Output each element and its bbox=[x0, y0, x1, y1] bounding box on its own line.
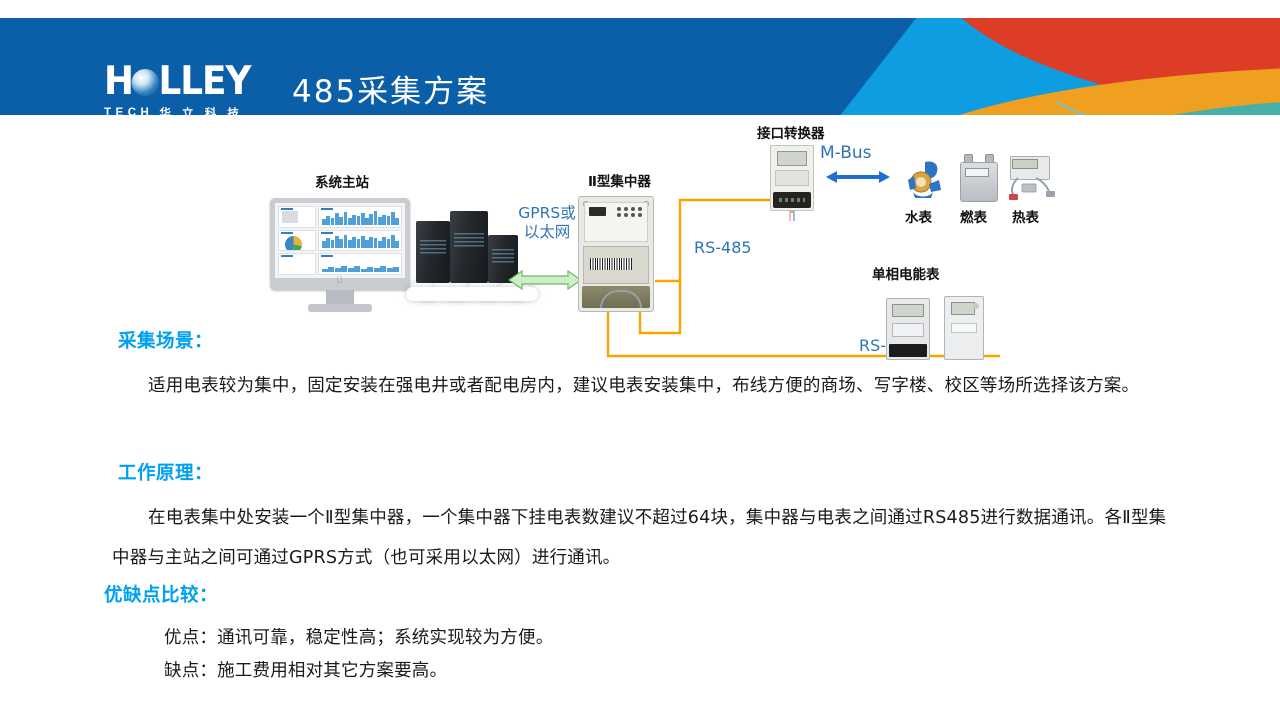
section-paragraph-pros: 优点：通讯可靠，稳定性高；系统实现较为方便。 bbox=[164, 622, 1164, 655]
logo-tech-text: TECH bbox=[104, 107, 153, 115]
logo-sphere-o-icon bbox=[132, 69, 160, 96]
barcode-icon bbox=[590, 258, 632, 270]
label-gas-meter: 燃表 bbox=[960, 206, 987, 226]
converter-label-area bbox=[775, 170, 809, 186]
logo-text-before-o: H bbox=[104, 59, 133, 104]
heat-meter-icon bbox=[1006, 154, 1058, 202]
concentrator-led-array bbox=[617, 207, 643, 217]
label-mbus: M-Bus bbox=[820, 144, 872, 163]
section-paragraph-scenario: 适用电表较为集中，固定安装在强电井或者配电房内，建议电表安装集中，布线方便的商场… bbox=[112, 366, 1180, 406]
label-gprs-line1: GPRS或 bbox=[508, 204, 586, 223]
apple-logo-icon:  bbox=[336, 276, 344, 285]
water-meter-icon bbox=[903, 158, 949, 202]
label-gprs-line2: 以太网 bbox=[508, 223, 586, 242]
dashboard-card-table bbox=[278, 206, 316, 228]
label-master-station: 系统主站 bbox=[315, 171, 369, 191]
gas-meter-icon bbox=[958, 154, 1000, 202]
single-phase-meter-group bbox=[880, 268, 990, 330]
label-rs485-upper: RS-485 bbox=[694, 238, 752, 257]
converter-terminal-block bbox=[773, 192, 811, 208]
concentrator-device bbox=[578, 196, 654, 312]
electric-meter-1 bbox=[886, 298, 930, 360]
section-paragraph-cons: 缺点：施工费用相对其它方案要高。 bbox=[164, 655, 1164, 688]
holley-logo: HLLEY TECH 华 立 科 技 bbox=[104, 62, 269, 115]
label-interface-converter: 接口转换器 bbox=[757, 122, 825, 142]
monitor-base bbox=[308, 304, 372, 312]
slide-root: HLLEY TECH 华 立 科 技 485采集方案 bbox=[0, 0, 1280, 720]
server-rack-1 bbox=[416, 221, 450, 283]
concentrator-panel bbox=[584, 202, 648, 242]
server-rack-2 bbox=[450, 211, 488, 283]
concentrator-lcd bbox=[589, 207, 606, 216]
master-station-monitor:  bbox=[270, 198, 410, 318]
mbus-double-arrow-icon bbox=[826, 170, 890, 184]
dashboard-card-pie bbox=[278, 230, 316, 252]
converter-lcd bbox=[777, 151, 807, 166]
page-title: 485采集方案 bbox=[292, 66, 489, 111]
dashboard-card-list bbox=[278, 253, 316, 275]
dashboard-card-bar-2 bbox=[318, 230, 402, 252]
dashboard-card-bar-3 bbox=[318, 253, 402, 275]
label-gprs-link: GPRS或 以太网 bbox=[508, 204, 586, 242]
slide-header: HLLEY TECH 华 立 科 技 485采集方案 bbox=[0, 18, 1280, 115]
label-water-meter: 水表 bbox=[905, 206, 932, 226]
electric-meter-2 bbox=[944, 296, 984, 360]
gprs-double-arrow-icon bbox=[508, 270, 582, 290]
label-heat-meter: 热表 bbox=[1012, 206, 1039, 226]
logo-chinese-text: 华 立 科 技 bbox=[159, 105, 243, 115]
section-heading-principle: 工作原理： bbox=[118, 459, 213, 485]
section-heading-prosandcons: 优缺点比较： bbox=[104, 581, 218, 607]
label-concentrator: Ⅱ型集中器 bbox=[588, 170, 651, 190]
interface-converter-device bbox=[770, 145, 814, 211]
logo-text-after-o: LLEY bbox=[158, 59, 250, 104]
concentrator-label-area bbox=[583, 246, 649, 284]
section-paragraph-principle: 在电表集中处安装一个Ⅱ型集中器，一个集中器下挂电表数建议不超过64块，集中器与电… bbox=[112, 498, 1180, 578]
logo-subline: TECH 华 立 科 技 bbox=[104, 105, 269, 115]
monitor-neck bbox=[326, 290, 354, 304]
dashboard-card-bar-1 bbox=[318, 206, 402, 228]
concentrator-terminal-block bbox=[582, 286, 650, 308]
monitor-screen bbox=[275, 203, 405, 278]
logo-wordmark: HLLEY bbox=[104, 62, 272, 102]
section-heading-scenario: 采集场景： bbox=[118, 327, 213, 353]
